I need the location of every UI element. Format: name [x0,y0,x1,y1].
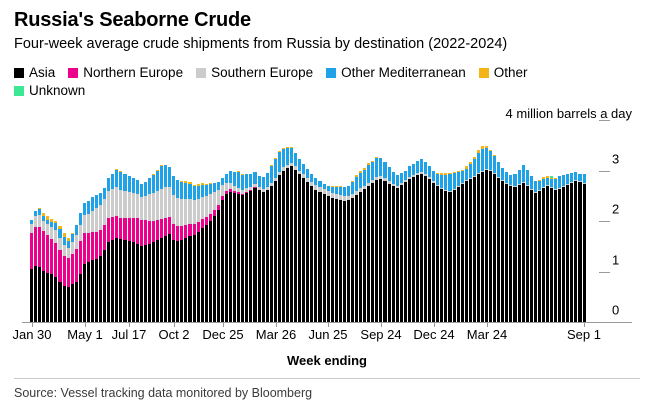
x-tick-label: Sep 24 [360,327,401,342]
x-tick-label: Jan 30 [12,327,51,342]
x-tick-label: May 1 [67,327,102,342]
source-note: Source: Vessel tracking data monitored b… [14,386,312,400]
chart-page: Russia's Seaborne Crude Four-week averag… [0,0,654,415]
x-tick-label: Oct 2 [158,327,189,342]
x-tick-label: Jul 17 [112,327,147,342]
x-tick-label: Jun 25 [308,327,347,342]
x-tick-label: Dec 24 [413,327,454,342]
x-tick-label: Sep 1 [567,327,601,342]
x-axis-title: Week ending [0,353,654,368]
x-tick-label: Dec 25 [202,327,243,342]
x-tick-label: Mar 24 [467,327,507,342]
x-tick-label: Mar 26 [256,327,296,342]
footer-divider [14,378,640,379]
